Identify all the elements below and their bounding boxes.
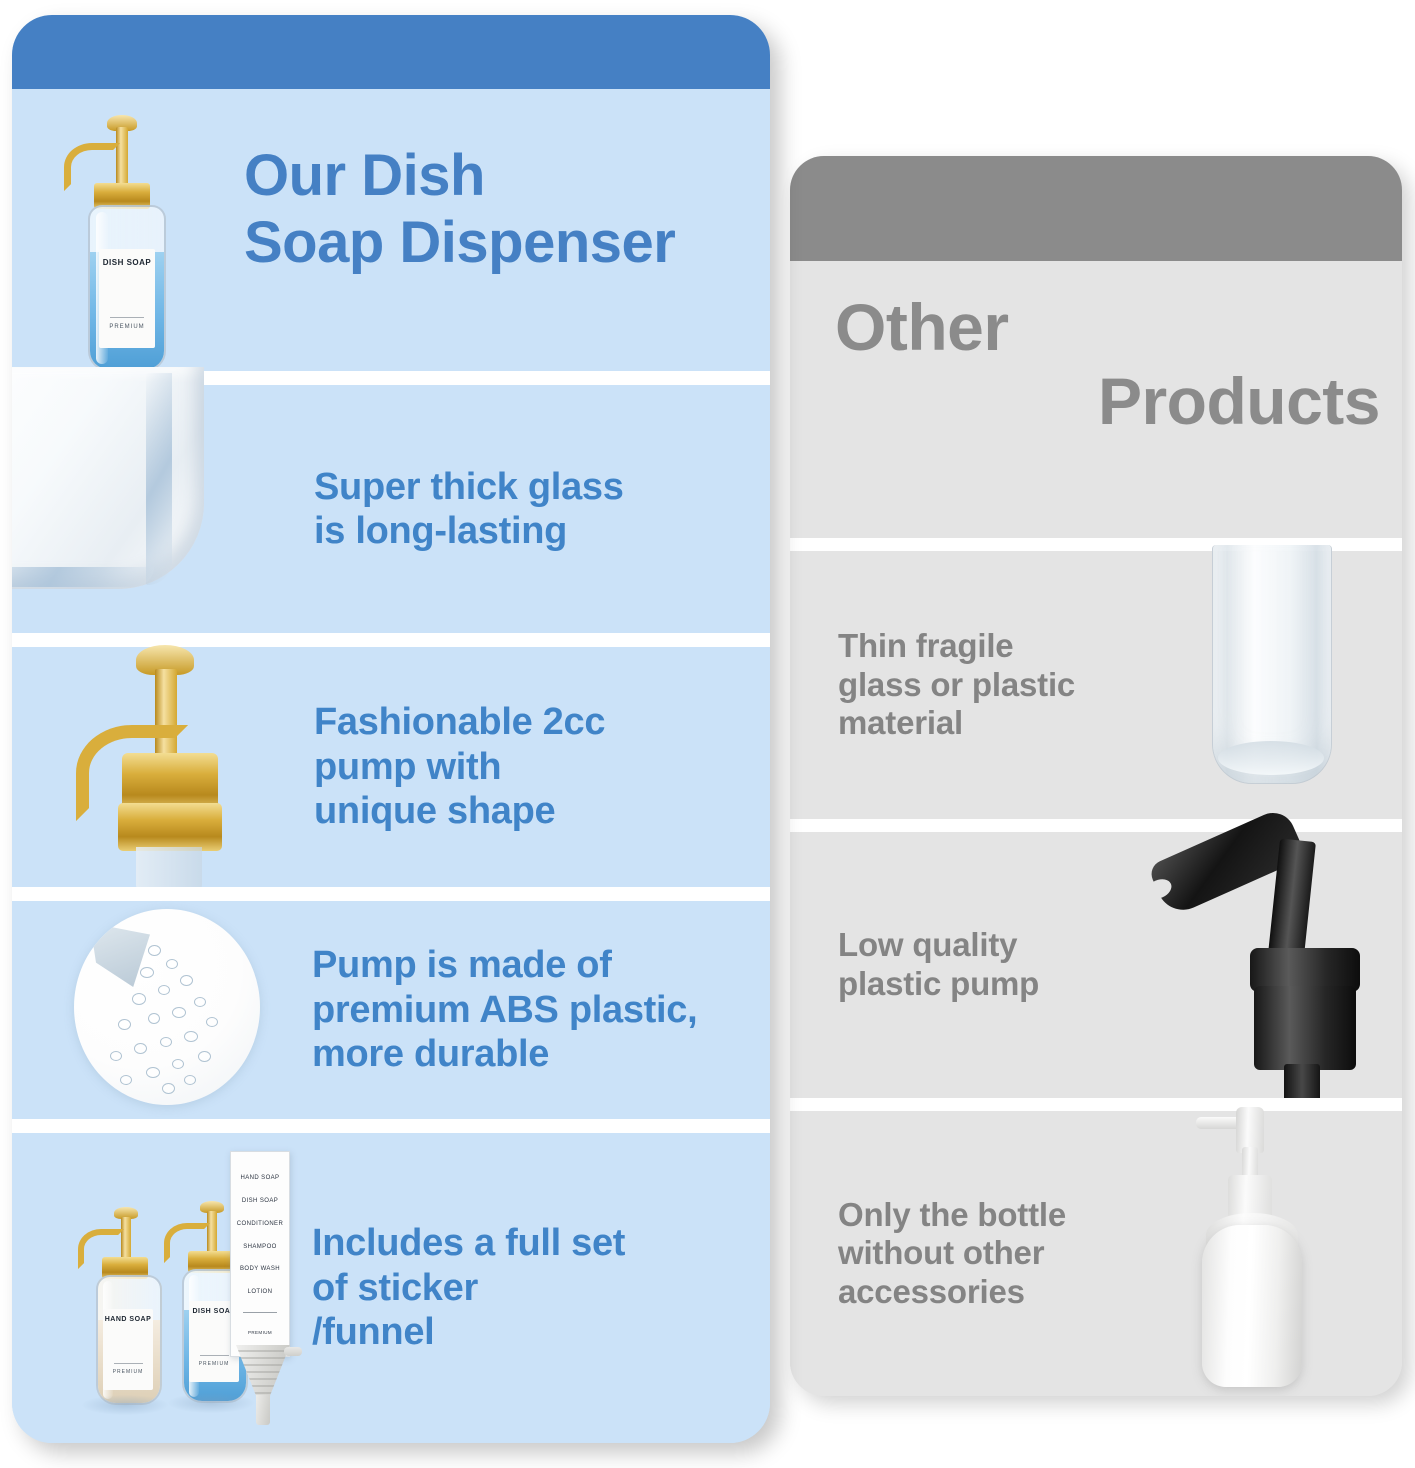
our-feature-2-text: Fashionable 2cc pump with unique shape	[314, 700, 734, 833]
white-plastic-dispenser-icon	[1190, 1103, 1380, 1393]
our-feature-4-line1: Includes a full set	[312, 1221, 742, 1265]
other-drawback-1-line1: Thin fragile	[838, 627, 1148, 666]
other-drawback-3-line3: accessories	[838, 1273, 1158, 1312]
our-feature-3-text: Pump is made of premium ABS plastic, mor…	[312, 943, 762, 1076]
hero-bottle-label-sub: PREMIUM	[109, 324, 144, 330]
our-feature-1-line1: Super thick glass	[314, 465, 734, 509]
our-product-title: Our Dish Soap Dispenser	[244, 143, 754, 276]
other-products-panel: Other Products Thin fragile glass or pla…	[790, 156, 1402, 1396]
other-drawback-2-line2: plastic pump	[838, 965, 1138, 1004]
other-products-title-line1: Other	[835, 291, 1380, 365]
hero-dish-soap-bottle: DISH SOAP PREMIUM	[52, 115, 202, 371]
other-drawback-3-text: Only the bottle without other accessorie…	[838, 1196, 1158, 1312]
thick-glass-bottle-corner-icon	[12, 367, 250, 635]
other-drawback-row-1: Thin fragile glass or plastic material	[790, 551, 1402, 819]
hero-bottle-label-main: DISH SOAP	[103, 258, 152, 267]
our-feature-2-line2: pump with	[314, 745, 734, 789]
our-feature-4-line3: /funnel	[312, 1310, 742, 1354]
other-drawback-1-line3: material	[838, 704, 1148, 743]
other-drawback-1-text: Thin fragile glass or plastic material	[838, 627, 1148, 743]
our-feature-3-line3: more durable	[312, 1032, 762, 1076]
collapsible-funnel-icon	[234, 1345, 306, 1431]
our-feature-2-line1: Fashionable 2cc	[314, 700, 734, 744]
thin-glass-cylinder-icon	[1190, 545, 1370, 807]
other-drawback-1-line2: glass or plastic	[838, 666, 1148, 705]
our-feature-3-line2: premium ABS plastic,	[312, 988, 762, 1032]
other-drawback-2-line1: Low quality	[838, 926, 1138, 965]
abs-plastic-pellets-icon	[64, 909, 274, 1111]
our-feature-2-line3: unique shape	[314, 789, 734, 833]
our-feature-row-1: Super thick glass is long-lasting	[12, 385, 770, 633]
sticker-sheet: HAND SOAP DISH SOAP CONDITIONER SHAMPOO …	[230, 1151, 290, 1357]
kit-bottle-1-label-main: HAND SOAP	[105, 1316, 152, 1323]
ours-separator-4	[12, 1119, 770, 1133]
sticker-item-6: LOTION	[248, 1289, 273, 1295]
hero-bottle-label: DISH SOAP PREMIUM	[99, 249, 155, 348]
kit-bottle-2-label-sub: PREMIUM	[199, 1361, 230, 1367]
our-feature-1-text: Super thick glass is long-lasting	[314, 465, 734, 554]
kit-bottle-1-label-sub: PREMIUM	[113, 1369, 144, 1375]
bottles-stickers-funnel-icon: HAND SOAP PREMIUM DISH SOAP	[62, 1133, 312, 1433]
our-feature-4-text: Includes a full set of sticker /funnel	[312, 1221, 742, 1354]
our-product-header-bar	[12, 15, 770, 89]
our-product-title-line2: Soap Dispenser	[244, 210, 754, 277]
our-feature-row-3: Pump is made of premium ABS plastic, mor…	[12, 901, 770, 1119]
sticker-item-1: HAND SOAP	[241, 1175, 280, 1181]
sticker-item-4: SHAMPOO	[243, 1244, 276, 1250]
our-feature-4-line2: of sticker	[312, 1266, 742, 1310]
other-drawback-2-text: Low quality plastic pump	[838, 926, 1138, 1003]
sticker-item-3: CONDITIONER	[237, 1221, 283, 1227]
our-feature-1-line2: is long-lasting	[314, 509, 734, 553]
our-feature-row-4: HAND SOAP PREMIUM DISH SOAP	[12, 1133, 770, 1443]
sticker-item-5: BODY WASH	[240, 1266, 280, 1272]
gold-pump-closeup-icon	[60, 641, 300, 893]
our-product-panel: Our Dish Soap Dispenser DISH SOAP PREMIU…	[12, 15, 770, 1443]
kit-bottle-1-label: HAND SOAP PREMIUM	[103, 1309, 153, 1390]
sticker-sheet-footer: PREMIUM	[248, 1330, 272, 1335]
other-drawback-3-line2: without other	[838, 1234, 1158, 1273]
other-products-title-line2: Products	[835, 365, 1380, 439]
other-products-title: Other Products	[835, 291, 1380, 439]
other-drawback-3-line1: Only the bottle	[838, 1196, 1158, 1235]
our-feature-3-line1: Pump is made of	[312, 943, 762, 987]
other-drawback-row-2: Low quality plastic pump	[790, 832, 1402, 1098]
sticker-item-2: DISH SOAP	[242, 1198, 278, 1204]
our-product-title-line1: Our Dish	[244, 143, 754, 210]
ours-separator-3	[12, 887, 770, 901]
our-feature-row-2: Fashionable 2cc pump with unique shape	[12, 647, 770, 887]
other-products-header-bar	[790, 156, 1402, 261]
other-drawback-row-3: Only the bottle without other accessorie…	[790, 1111, 1402, 1396]
black-plastic-pump-icon	[1142, 818, 1402, 1098]
